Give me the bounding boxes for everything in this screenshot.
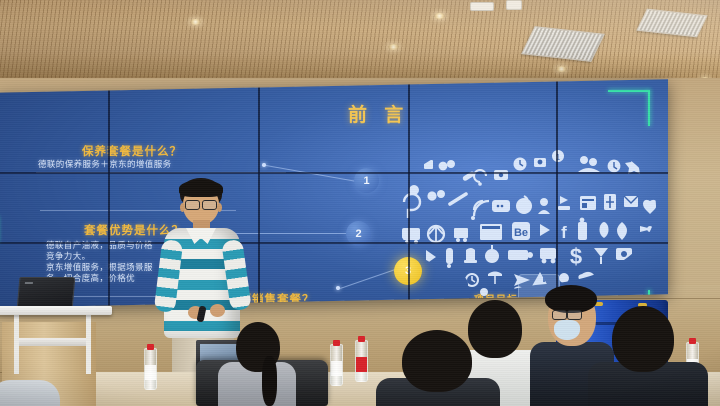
- bottle-cap: [147, 344, 154, 350]
- lcd-video-wall: 前 言 保养套餐是什么？ 德联的保养服务＋京东的增值服务 1 套餐优势是什么？ …: [0, 79, 668, 307]
- svg-text:P: P: [645, 248, 653, 262]
- glasses-icon: [185, 200, 200, 210]
- podium-leg: [14, 312, 19, 374]
- glasses-icon: [202, 200, 217, 210]
- audience-member-front: [390, 330, 486, 406]
- audience-member-left-edge: [0, 372, 60, 406]
- bottle-label: [356, 357, 367, 372]
- audience-head: [402, 330, 472, 392]
- audience-hair: [545, 285, 597, 313]
- led-edge-strip: [648, 90, 650, 126]
- water-bottle[interactable]: [144, 348, 157, 390]
- section-1-body: 德联的保养服务＋京东的增值服务: [38, 159, 172, 170]
- led-edge-strip: [608, 90, 650, 92]
- presenter-hairline: [179, 180, 223, 197]
- audience-body: [0, 380, 60, 406]
- panel-bezel: [0, 172, 668, 174]
- water-bottle[interactable]: [330, 344, 343, 386]
- braided-hair: [262, 356, 277, 406]
- presenter-ear: [217, 203, 222, 212]
- audience-head: [612, 306, 674, 372]
- wooden-slat-ceiling: [0, 0, 720, 86]
- bottle-cap: [333, 340, 340, 346]
- bottle-label: [145, 365, 156, 380]
- laptop-logo: [25, 282, 33, 284]
- panel-bezel: [0, 242, 668, 244]
- glasses-icon: [567, 310, 582, 320]
- audience-member-right: [604, 306, 690, 406]
- face-mask: [554, 320, 580, 340]
- slide-title: 前 言: [348, 100, 409, 127]
- glasses-icon: [552, 310, 567, 320]
- panel-bezel: [108, 79, 110, 307]
- panel-bezel: [408, 79, 410, 307]
- ceiling-shading: [0, 0, 720, 86]
- bottle-cap: [689, 338, 696, 344]
- podium-leg: [86, 312, 91, 374]
- audience-member-braid: [218, 322, 296, 406]
- water-bottle-red-label[interactable]: [355, 340, 368, 382]
- bottle-label: [331, 361, 342, 376]
- svg-text:$: $: [570, 244, 582, 269]
- presenter-right-hand: [210, 304, 225, 317]
- svg-text:f: f: [561, 223, 567, 242]
- conference-room-scene: 前 言 保养套餐是什么？ 德联的保养服务＋京东的增值服务 1 套餐优势是什么？ …: [0, 0, 720, 406]
- podium-shelf: [14, 338, 90, 346]
- panel-bezel: [556, 79, 558, 307]
- panel-bezel: [258, 79, 260, 307]
- svg-text:Be: Be: [514, 227, 528, 239]
- podium-desktop: [0, 306, 112, 315]
- section-1-heading: 保养套餐是什么？: [82, 143, 182, 159]
- bottle-cap: [358, 336, 365, 342]
